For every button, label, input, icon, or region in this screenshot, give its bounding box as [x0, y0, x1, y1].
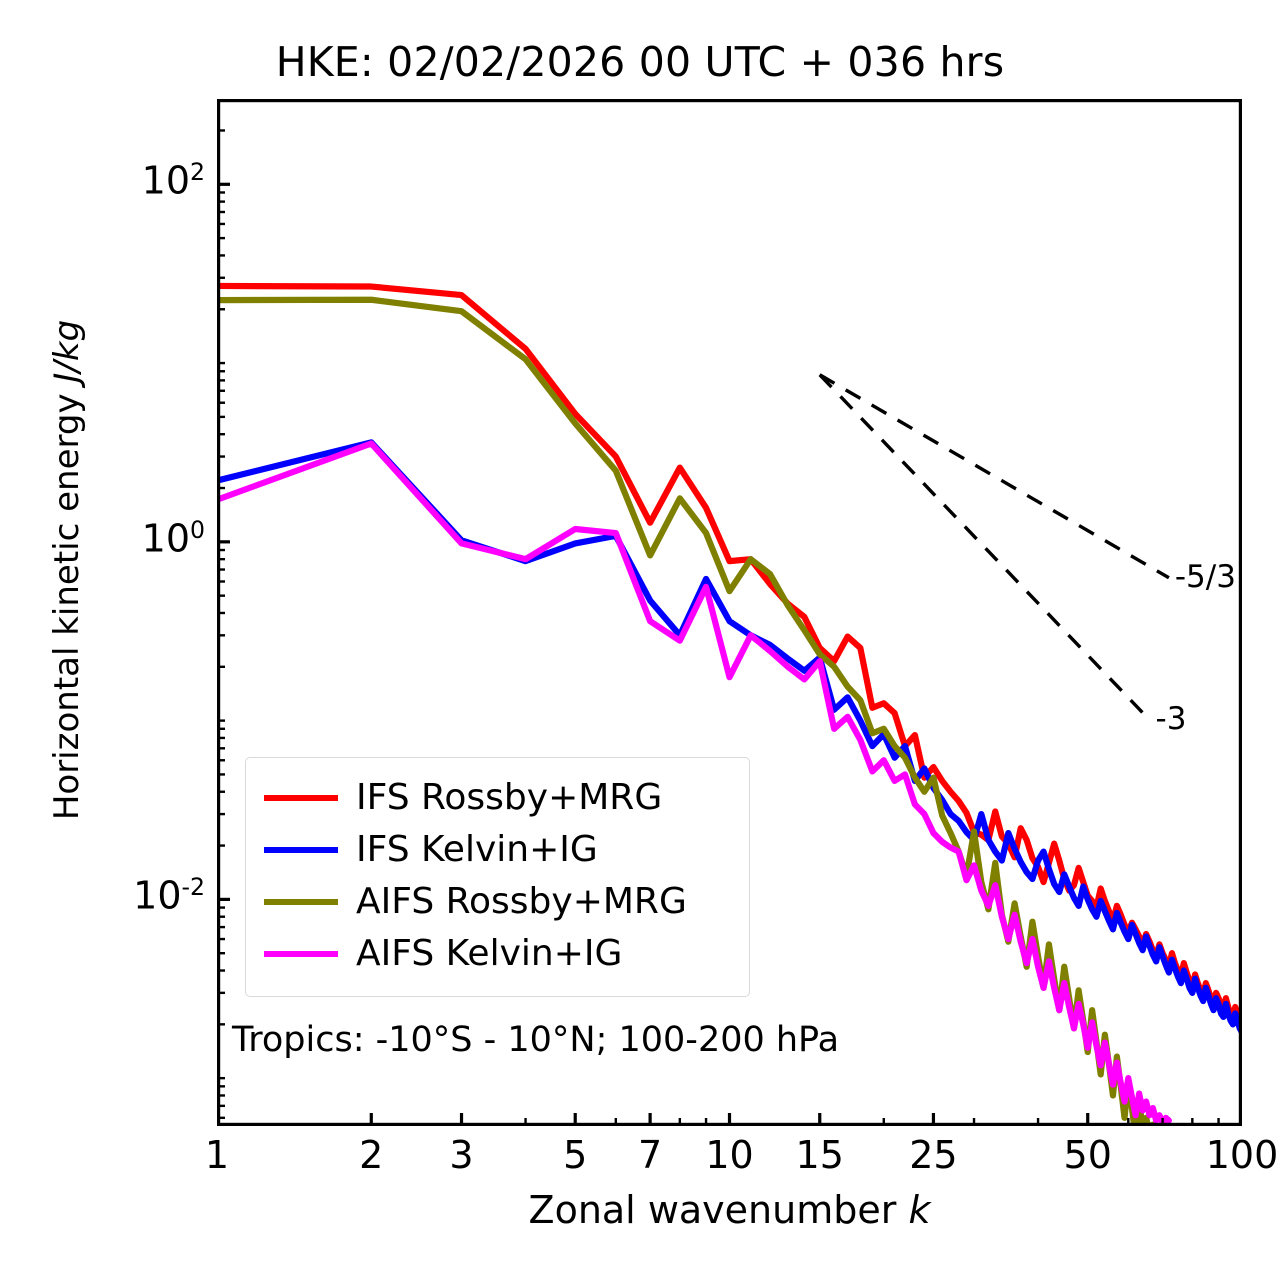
legend-label: IFS Kelvin+IG: [356, 832, 598, 868]
x-axis-label-text: Zonal wavenumber: [529, 1188, 909, 1232]
legend-item-aifs-rossby-mrg[interactable]: AIFS Rossby+MRG: [264, 876, 731, 928]
y-tick-label: 100: [142, 516, 205, 561]
x-tick-label: 25: [873, 1133, 993, 1177]
page-title: HKE: 02/02/2026 00 UTC + 036 hrs: [0, 38, 1280, 86]
x-tick-label: 50: [1028, 1133, 1148, 1177]
y-tick-label: 102: [142, 158, 205, 203]
legend-item-ifs-rossby-mrg[interactable]: IFS Rossby+MRG: [264, 772, 731, 824]
reference-lines-group: [820, 375, 1169, 720]
reference-line-label-53: -5/3: [1175, 559, 1236, 595]
legend-item-ifs-kelvin-ig[interactable]: IFS Kelvin+IG: [264, 824, 731, 876]
x-axis-label-symbol: k: [908, 1188, 930, 1232]
y-tick-exponent: -2: [182, 873, 205, 901]
legend-label: AIFS Kelvin+IG: [356, 936, 622, 972]
legend-label: AIFS Rossby+MRG: [356, 884, 687, 920]
y-axis-label: Horizontal kinetic energy J/kg: [47, 200, 87, 940]
y-tick-exponent: 2: [190, 158, 205, 186]
y-tick-mantissa: 10: [142, 159, 190, 203]
legend-swatch: [264, 795, 338, 801]
chart-root: HKE: 02/02/2026 00 UTC + 036 hrs Horizon…: [0, 0, 1280, 1288]
y-tick-label: 10-2: [133, 873, 205, 918]
y-tick-mantissa: 10: [133, 874, 181, 918]
legend-swatch: [264, 951, 338, 957]
reference-line-3: [820, 375, 1150, 720]
legend-item-aifs-kelvin-ig[interactable]: AIFS Kelvin+IG: [264, 928, 731, 980]
series-group: [217, 286, 1242, 1126]
y-tick-exponent: 0: [190, 516, 205, 544]
x-tick-label: 15: [760, 1133, 880, 1177]
region-annotation: Tropics: -10°S - 10°N; 100-200 hPa: [232, 1020, 839, 1060]
y-tick-mantissa: 10: [142, 516, 190, 560]
legend-swatch: [264, 847, 338, 853]
x-tick-label: 3: [402, 1133, 522, 1177]
series-line-aifs-rossby-mrg: [217, 300, 1156, 1126]
x-axis-label: Zonal wavenumber k: [217, 1188, 1242, 1232]
x-tick-marks: [217, 1113, 1242, 1126]
legend-label: IFS Rossby+MRG: [356, 780, 662, 816]
reference-line-label-3: -3: [1156, 701, 1187, 737]
legend-swatch: [264, 899, 338, 905]
x-tick-label: 1: [157, 1133, 277, 1177]
y-axis-label-units: J/kg: [47, 320, 87, 383]
y-axis-label-text: Horizontal kinetic energy: [47, 383, 87, 821]
x-tick-label: 100: [1182, 1133, 1280, 1177]
reference-line-53: [820, 375, 1169, 578]
legend[interactable]: IFS Rossby+MRGIFS Kelvin+IGAIFS Rossby+M…: [245, 757, 750, 997]
